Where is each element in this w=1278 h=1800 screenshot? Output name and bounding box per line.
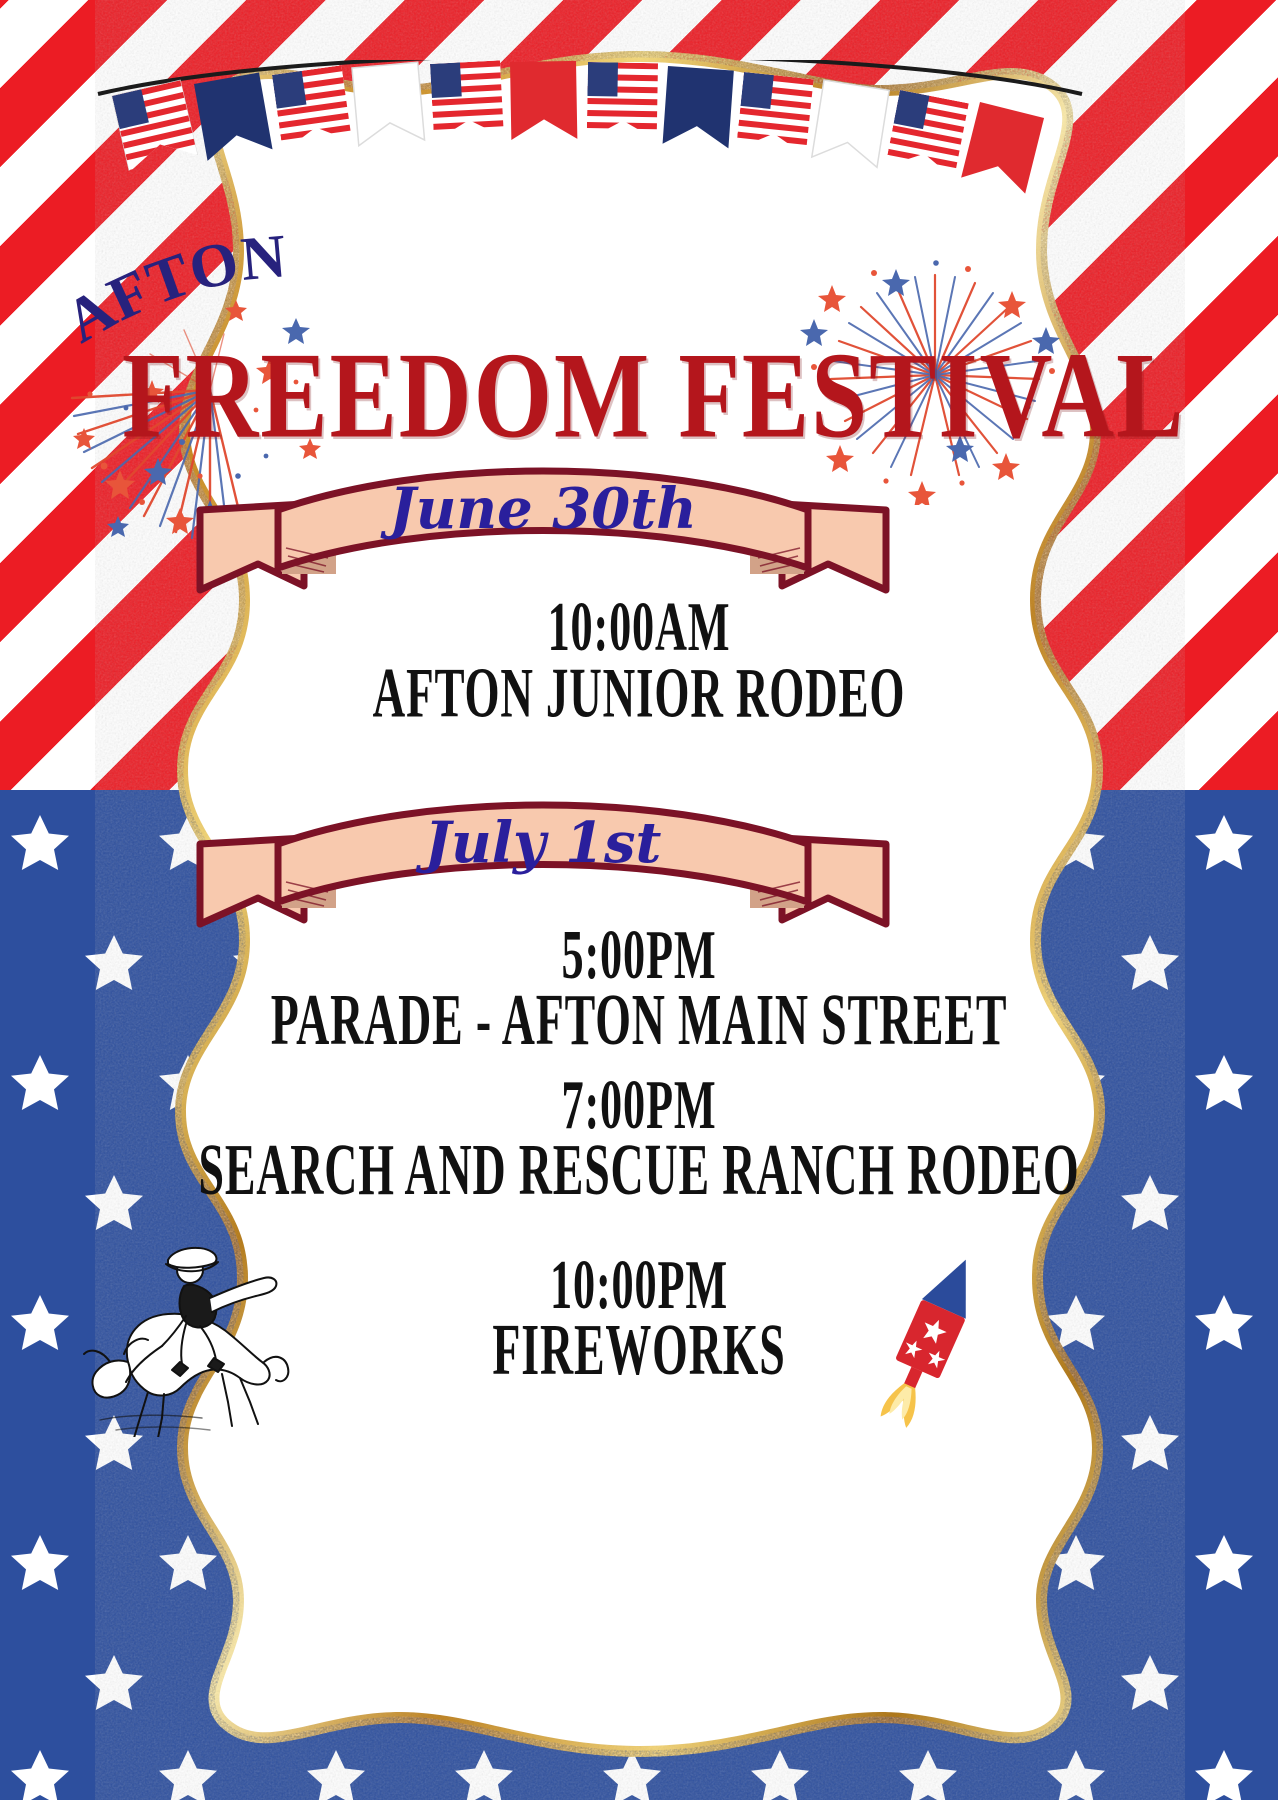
date-banner-june-30-label: June 30th <box>186 476 900 542</box>
date-banner-july-1-label: July 1st <box>186 810 900 876</box>
schedule-day-2-event-2: 7:00PM SEARCH AND RESCUE RANCH RODEO <box>0 1078 1278 1200</box>
page-title: FREEDOM FESTIVAL <box>0 335 1278 439</box>
firework-rocket-clipart <box>860 1248 1000 1433</box>
event-name: AFTON JUNIOR RODEO <box>115 657 1163 730</box>
schedule-day-1: 10:00AM AFTON JUNIOR RODEO <box>0 600 1278 721</box>
date-banner-june-30: June 30th <box>186 452 900 602</box>
date-banner-july-1: July 1st <box>186 786 900 936</box>
page-title-text: FREEDOM FESTIVAL <box>93 335 1185 458</box>
schedule-day-2-event-1: 5:00PM PARADE - AFTON MAIN STREET <box>0 928 1278 1050</box>
event-name: SEARCH AND RESCUE RANCH RODEO <box>115 1135 1163 1209</box>
bull-rider-clipart <box>82 1212 312 1437</box>
poster-canvas: AFTON FREEDOM FESTIVAL June 30th 10:0 <box>0 0 1278 1800</box>
event-name: PARADE - AFTON MAIN STREET <box>115 985 1163 1059</box>
